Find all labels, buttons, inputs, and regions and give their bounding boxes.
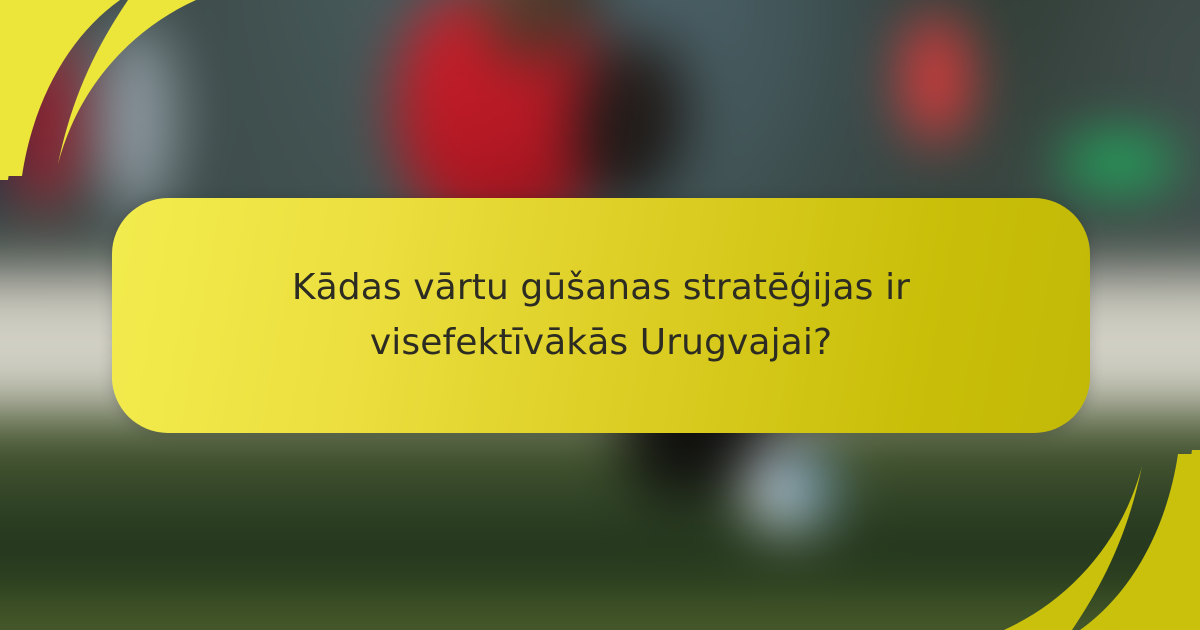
background-grass — [0, 412, 1200, 630]
question-card-graphic: Kādas vārtu gūšanas stratēģijas ir visef… — [0, 0, 1200, 630]
spectator-grey — [99, 22, 175, 216]
question-text: Kādas vārtu gūšanas stratēģijas ir visef… — [251, 261, 951, 370]
background-green-patch — [1059, 135, 1178, 191]
background-red-flag — [902, 14, 969, 144]
spectator-red-head — [19, 14, 62, 62]
soccer-ball-icon — [746, 446, 835, 530]
question-card: Kādas vārtu gūšanas stratēģijas ir visef… — [112, 198, 1090, 433]
